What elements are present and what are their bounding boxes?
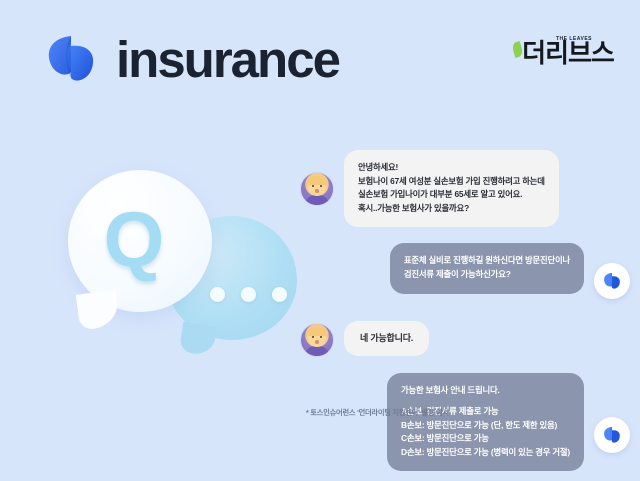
brand-wordmark: insurance: [116, 34, 339, 85]
brand-lockup: insurance: [40, 28, 339, 90]
chat-message-row: 표준체 실비로 진행하길 원하신다면 방문진단이나 검진서류 제출이 가능하신가…: [300, 243, 630, 299]
typing-dots: [210, 286, 296, 302]
typing-dot-3: [272, 287, 287, 302]
slide-root: insurance THE LEAVES 더리브스 Q: [0, 0, 640, 448]
chat-line: 혹시..가능한 보험사가 있을까요?: [358, 202, 545, 216]
avatar-mouth: [315, 189, 319, 193]
partner-logo-the-leaves: THE LEAVES 더리브스: [512, 20, 624, 66]
chat-line: 실손보험 가입나이가 대부분 65세로 알고 있어요.: [358, 188, 545, 202]
insurance-droplet-logo-icon: [40, 28, 102, 90]
insurance-logo-avatar: [594, 263, 630, 299]
chat-bubble-outgoing: 가능한 보험사 안내 드립니다. A손보: 검진서류 제출로 가능 B손보: 방…: [387, 373, 584, 471]
avatar-eye-left: [312, 185, 314, 187]
avatar-hair: [306, 327, 328, 336]
header: insurance THE LEAVES 더리브스: [0, 0, 640, 110]
avatar-body: [305, 346, 329, 357]
user-avatar: [300, 172, 334, 206]
chat-transcript: 안녕하세요! 보험나이 67세 여성분 실손보험 가입 진행하려고 하는데 실손…: [300, 150, 630, 481]
avatar-hair: [306, 176, 328, 185]
partner-logo-main-label: 더리브스: [522, 38, 614, 68]
chat-line: 표준체 실비로 진행하길 원하신다면 방문진단이나: [404, 254, 570, 268]
chat-bubble-incoming: 네 가능합니다.: [344, 321, 429, 356]
chat-line: 보험나이 67세 여성분 실손보험 가입 진행하려고 하는데: [358, 175, 545, 189]
partner-logo-main-text: 더리브스: [522, 40, 614, 66]
chat-bubble-title: 가능한 보험사 안내 드립니다.: [401, 384, 570, 398]
user-avatar: [300, 323, 334, 357]
chat-line: 안녕하세요!: [358, 161, 545, 175]
avatar-body: [305, 195, 329, 206]
chat-bubble-outgoing: 표준체 실비로 진행하길 원하신다면 방문진단이나 검진서류 제출이 가능하신가…: [390, 243, 584, 293]
insurer-option: C손보: 방문진단으로 가능: [401, 432, 570, 446]
chat-message-row: 가능한 보험사 안내 드립니다. A손보: 검진서류 제출로 가능 B손보: 방…: [300, 373, 630, 471]
typing-dot-2: [241, 287, 256, 302]
insurance-logo-avatar: [594, 417, 630, 453]
chat-line: 네 가능합니다.: [360, 331, 413, 346]
footnote: * 토스인슈어런스 '언더라이팅 지원센터' 활용 예시: [306, 408, 449, 418]
avatar-eye-right: [320, 185, 322, 187]
spacer: [401, 398, 570, 405]
speech-bubble-illustration: Q: [62, 168, 298, 354]
typing-dot-1: [210, 287, 225, 302]
chat-line: 검진서류 제출이 가능하신가요?: [404, 268, 570, 282]
chat-bubble-incoming: 안녕하세요! 보험나이 67세 여성분 실손보험 가입 진행하려고 하는데 실손…: [344, 150, 559, 227]
question-letter: Q: [62, 168, 206, 310]
chat-message-row: 네 가능합니다.: [300, 313, 630, 357]
insurer-option: B손보: 방문진단으로 가능 (단, 한도 제한 있음): [401, 419, 570, 433]
chat-message-row: 안녕하세요! 보험나이 67세 여성분 실손보험 가입 진행하려고 하는데 실손…: [300, 150, 630, 227]
